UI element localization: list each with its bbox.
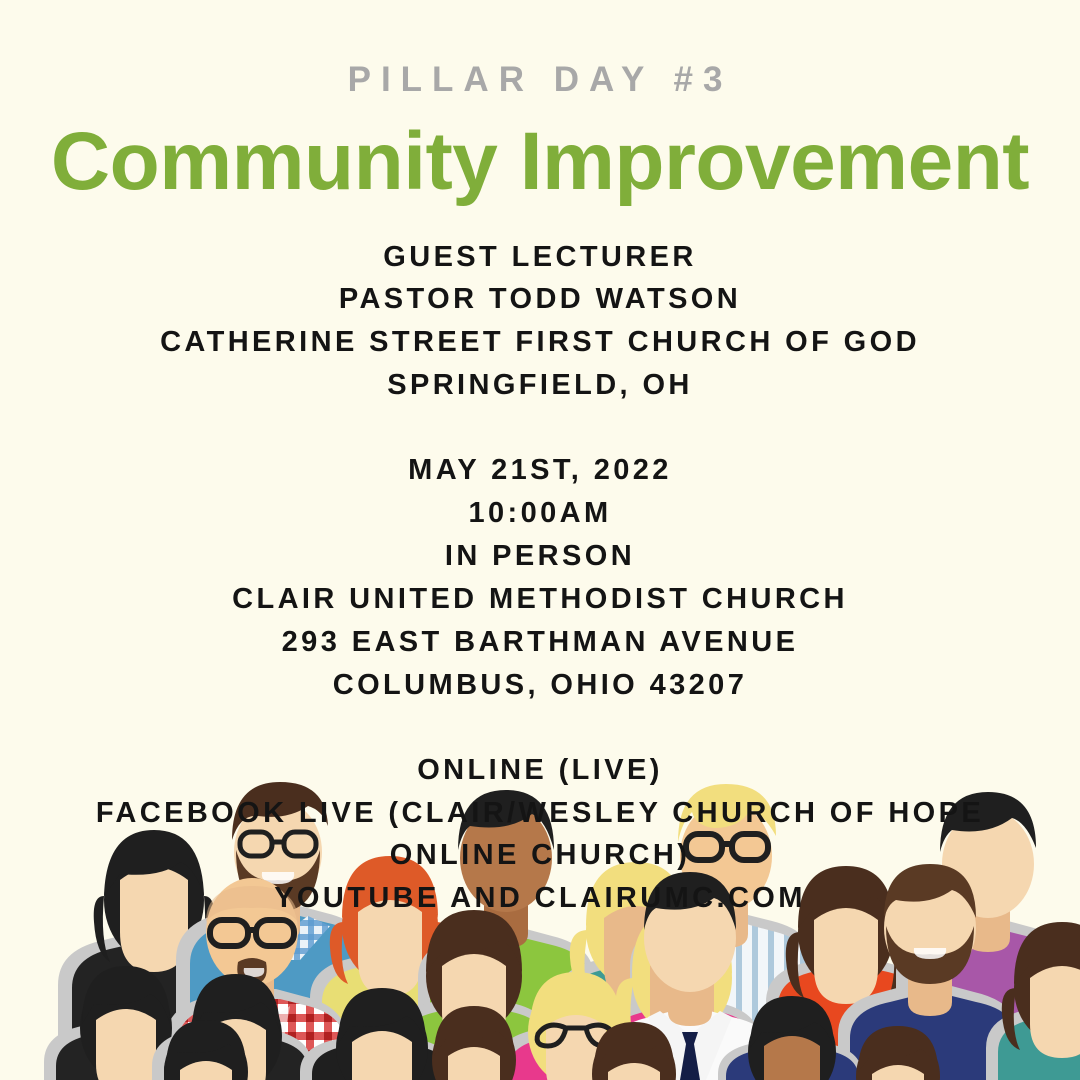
flyer-text-content: PILLAR DAY #3 Community Improvement GUES…: [0, 0, 1080, 920]
event-date: MAY 21ST, 2022: [0, 449, 1080, 492]
online-block: ONLINE (LIVE) FACEBOOK LIVE (CLAIR/WESLE…: [0, 707, 1080, 921]
event-venue: CLAIR UNITED METHODIST CHURCH: [0, 578, 1080, 621]
speaker-line-3: CATHERINE STREET FIRST CHURCH OF GOD: [0, 321, 1080, 364]
speaker-line-1: GUEST LECTURER: [0, 236, 1080, 279]
page-title: Community Improvement: [0, 99, 1080, 208]
event-flyer: PILLAR DAY #3 Community Improvement GUES…: [0, 0, 1080, 1080]
speaker-block: GUEST LECTURER PASTOR TODD WATSON CATHER…: [0, 208, 1080, 408]
online-heading: ONLINE (LIVE): [0, 749, 1080, 792]
speaker-line-4: SPRINGFIELD, OH: [0, 364, 1080, 407]
event-details-block: MAY 21ST, 2022 10:00AM IN PERSON CLAIR U…: [0, 407, 1080, 706]
speaker-line-2: PASTOR TODD WATSON: [0, 278, 1080, 321]
event-format: IN PERSON: [0, 535, 1080, 578]
online-facebook: FACEBOOK LIVE (CLAIR/WESLEY CHURCH OF HO…: [0, 792, 1080, 878]
online-youtube-website: YOUTUBE AND CLAIRUMC.COM: [0, 877, 1080, 920]
event-city-state-zip: COLUMBUS, OHIO 43207: [0, 664, 1080, 707]
event-time: 10:00AM: [0, 492, 1080, 535]
eyebrow-pillar-day: PILLAR DAY #3: [0, 0, 1080, 99]
event-street: 293 EAST BARTHMAN AVENUE: [0, 621, 1080, 664]
